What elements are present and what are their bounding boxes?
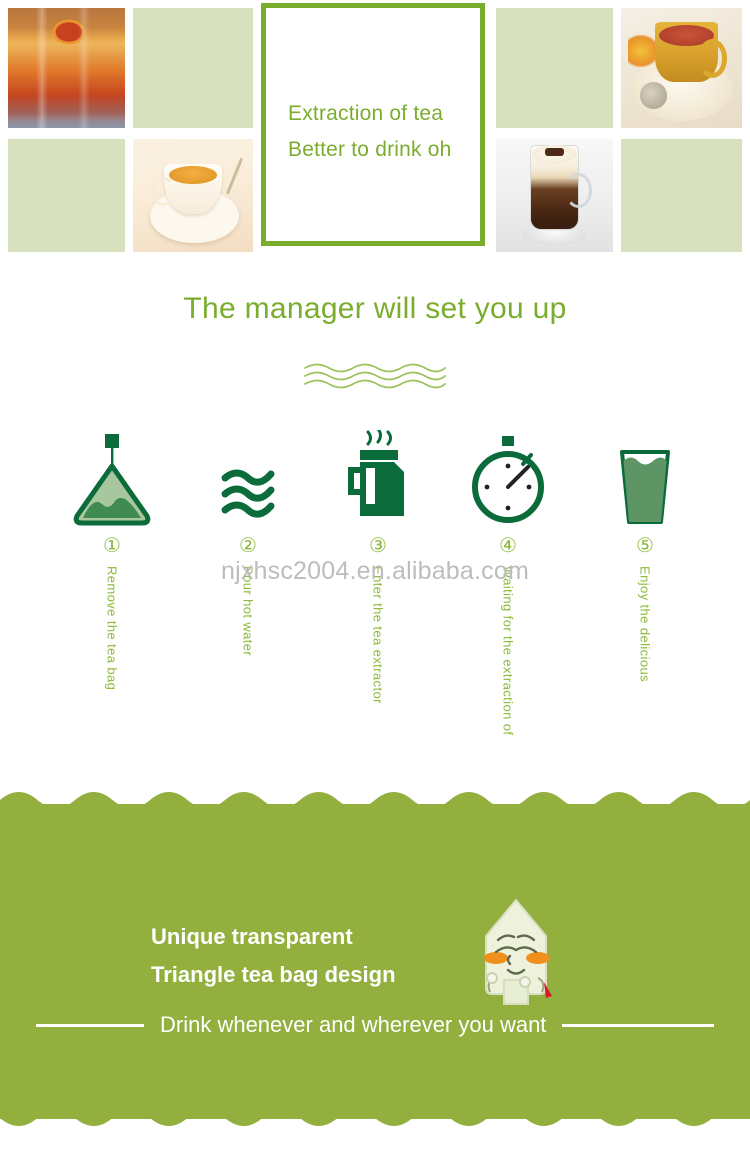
tea-bag-mascot-icon xyxy=(468,896,564,1008)
hero-photo-grid: Extraction of tea Better to drink oh xyxy=(0,0,750,260)
stopwatch-icon xyxy=(441,428,575,528)
step-label-wrap: Enjoy the delicious xyxy=(578,566,712,756)
tint-block-3 xyxy=(496,8,613,128)
tagline-rule-right xyxy=(562,1024,714,1027)
yellow-cup-photo xyxy=(621,8,742,128)
glass-icon xyxy=(578,428,712,528)
step-label-wrap: Enter the tea extractor xyxy=(311,566,445,756)
kettle-icon xyxy=(311,428,445,528)
bottom-headline-line1: Unique transparent xyxy=(151,918,396,956)
hero-headline-line1: Extraction of tea xyxy=(288,96,472,132)
step-5: ⑤ Enjoy the delicious xyxy=(578,428,712,756)
tagline-row: Drink whenever and wherever you want xyxy=(0,1011,750,1039)
step-label-wrap: Waiting for the extraction of xyxy=(441,566,575,756)
step-label: Waiting for the extraction of xyxy=(501,566,516,735)
step-label: Enter the tea extractor xyxy=(371,566,386,704)
bottom-green-panel: Unique transparent Triangle tea bag desi… xyxy=(0,786,750,1153)
step-label-wrap: Pour hot water xyxy=(181,566,315,756)
step-number: ② xyxy=(181,536,315,556)
step-number: ⑤ xyxy=(578,536,712,556)
bottom-headline: Unique transparent Triangle tea bag desi… xyxy=(151,918,396,994)
section-title: The manager will set you up xyxy=(0,292,750,326)
step-1: ① Remove the tea bag xyxy=(45,428,179,756)
tagline: Drink whenever and wherever you want xyxy=(144,1012,562,1038)
tagline-rule-left xyxy=(36,1024,144,1027)
step-number: ④ xyxy=(441,536,575,556)
step-2: ② Pour hot water xyxy=(181,428,315,756)
tint-block-1 xyxy=(133,8,253,128)
hero-headline-box: Extraction of tea Better to drink oh xyxy=(261,3,485,246)
bottom-headline-line2: Triangle tea bag design xyxy=(151,956,396,994)
wave-divider-icon xyxy=(0,358,750,392)
step-label: Pour hot water xyxy=(241,566,256,656)
hero-headline: Extraction of tea Better to drink oh xyxy=(288,96,472,168)
step-4: ④ Waiting for the extraction of xyxy=(441,428,575,756)
hero-headline-line2: Better to drink oh xyxy=(288,132,472,168)
step-number: ① xyxy=(45,536,179,556)
product-detail-page: Extraction of tea Better to drink oh xyxy=(0,0,750,1153)
step-3: ③ Enter the tea extractor xyxy=(311,428,445,756)
latte-photo xyxy=(496,139,613,252)
tint-block-4 xyxy=(621,139,742,252)
step-label: Remove the tea bag xyxy=(105,566,120,690)
tea-cup-photo xyxy=(133,139,253,252)
water-waves-icon xyxy=(181,428,315,528)
step-label-wrap: Remove the tea bag xyxy=(45,566,179,756)
step-label: Enjoy the delicious xyxy=(638,566,653,682)
step-number: ③ xyxy=(311,536,445,556)
iced-tea-photo xyxy=(8,8,125,128)
tint-block-2 xyxy=(8,139,125,252)
tea-bag-icon xyxy=(45,428,179,528)
steps-row: ① Remove the tea bag ② Pour hot water xyxy=(0,428,750,768)
